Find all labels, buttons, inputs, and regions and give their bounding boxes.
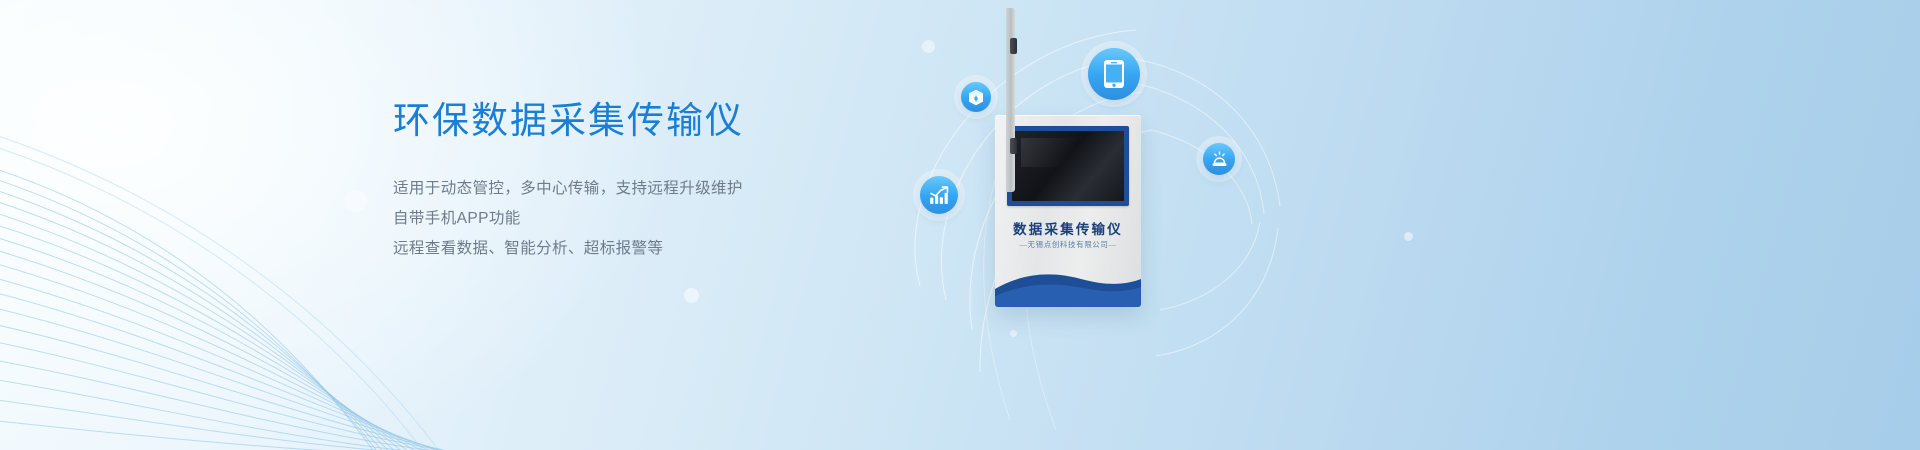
- page-title: 环保数据采集传输仪: [393, 96, 913, 146]
- device-latch-top: [1010, 38, 1017, 54]
- subtitle-line-2: 自带手机APP功能: [393, 204, 913, 234]
- bar-chart-growth-icon: [920, 176, 958, 214]
- device-screen: [1012, 131, 1124, 201]
- device-footer-wave: [995, 263, 1141, 307]
- product-banner: 环保数据采集传输仪 适用于动态管控，多中心传输，支持远程升级维护 自带手机APP…: [0, 0, 1920, 450]
- cube-box-icon: [961, 82, 991, 112]
- product-visual: 数据采集传输仪 —无锡点创科技有限公司—: [860, 0, 1560, 450]
- subtitle-line-3: 远程查看数据、智能分析、超标报警等: [393, 234, 913, 264]
- device-latch-bottom: [1010, 138, 1017, 154]
- device-side-panel: [1006, 8, 1015, 192]
- device-company-label: —无锡点创科技有限公司—: [995, 239, 1141, 250]
- mobile-phone-icon: [1088, 48, 1140, 100]
- decor-bubble: [345, 190, 367, 212]
- decorative-arc-lines: [860, 0, 1560, 450]
- alarm-light-icon: [1203, 143, 1235, 175]
- subtitle-line-1: 适用于动态管控，多中心传输，支持远程升级维护: [393, 174, 913, 204]
- device-screen-bezel: [1007, 126, 1129, 206]
- device-brand-label: 数据采集传输仪: [995, 218, 1141, 238]
- banner-copy: 环保数据采集传输仪 适用于动态管控，多中心传输，支持远程升级维护 自带手机APP…: [393, 96, 913, 264]
- decor-bubble: [684, 288, 699, 303]
